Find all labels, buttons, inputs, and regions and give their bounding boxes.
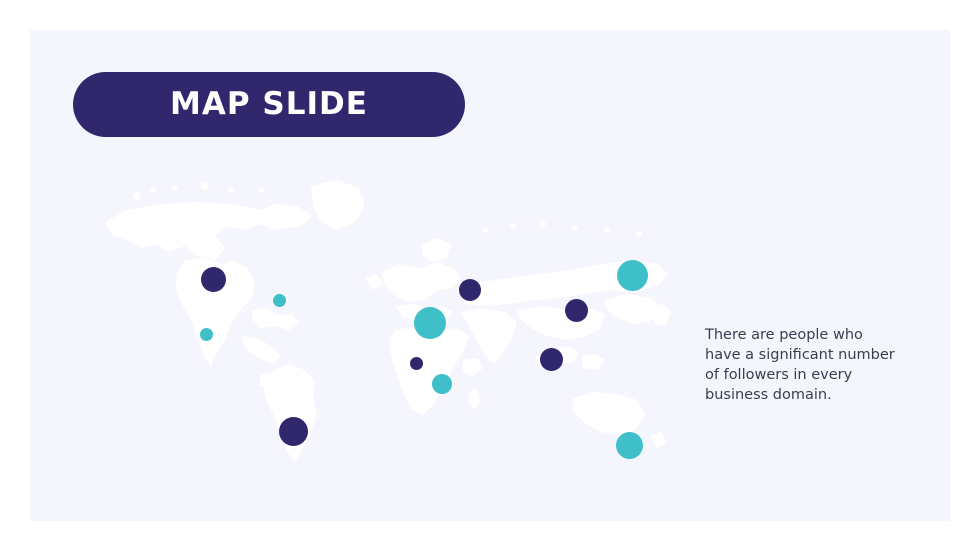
world-map-shape <box>65 160 705 480</box>
marker-north-america-southwest[interactable] <box>200 328 213 341</box>
world-map <box>30 30 950 521</box>
marker-west-africa[interactable] <box>410 357 423 370</box>
marker-central-africa[interactable] <box>432 374 452 394</box>
marker-western-europe[interactable] <box>414 307 446 339</box>
marker-east-asia-north[interactable] <box>565 299 588 322</box>
slide-canvas: MAP SLIDE <box>30 30 950 521</box>
marker-eastern-europe[interactable] <box>459 279 481 301</box>
marker-north-america-east[interactable] <box>273 294 286 307</box>
marker-australia[interactable] <box>616 432 643 459</box>
caption-text: There are people who have a significant … <box>705 325 895 405</box>
marker-northeast-asia[interactable] <box>617 260 648 291</box>
marker-south-america[interactable] <box>279 417 308 446</box>
marker-south-asia[interactable] <box>540 348 563 371</box>
marker-north-america-west[interactable] <box>201 267 226 292</box>
